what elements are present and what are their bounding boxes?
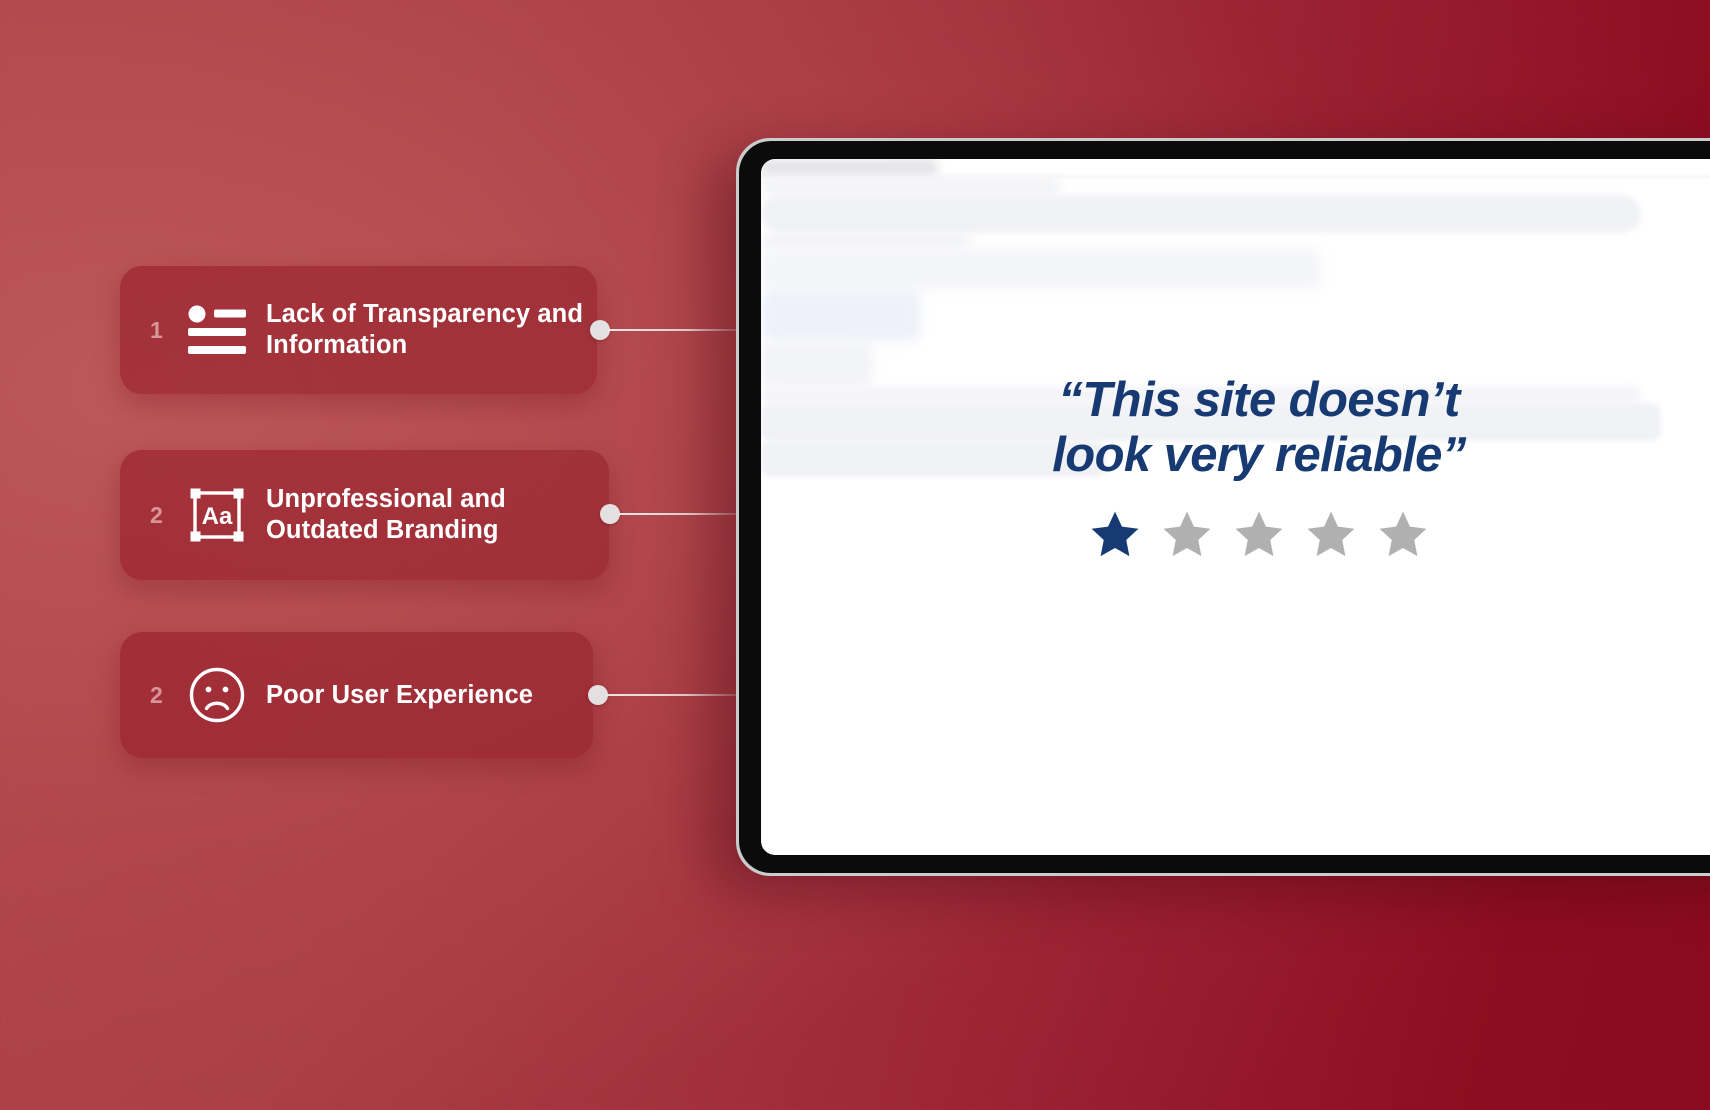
- star-icon-empty-5: [1375, 508, 1431, 562]
- tablet-device: “This site doesn’t look very reliable”: [736, 138, 1710, 876]
- connector-stroke-1: [608, 329, 740, 331]
- issue-card-2[interactable]: 2 Aa Unprofessional and Outdated Brandin…: [120, 450, 609, 580]
- star-icon-filled-1: [1087, 508, 1143, 562]
- text-style-icon: Aa: [184, 482, 250, 548]
- connector-line-3: [588, 675, 740, 715]
- connector-stroke-2: [618, 513, 740, 515]
- star-icon-empty-2: [1159, 508, 1215, 562]
- star-icon-empty-4: [1303, 508, 1359, 562]
- ghost-placeholder-c: [761, 233, 971, 249]
- star-rating: [761, 508, 1710, 562]
- issue-card-2-title: Unprofessional and Outdated Branding: [266, 484, 609, 545]
- issue-card-1-number: 1: [150, 317, 184, 344]
- star-icon-empty-3: [1231, 508, 1287, 562]
- sad-face-icon: [184, 662, 250, 728]
- tablet-bezel: “This site doesn’t look very reliable”: [739, 141, 1710, 873]
- tablet-screen: “This site doesn’t look very reliable”: [761, 159, 1710, 855]
- review-quote-block: “This site doesn’t look very reliable”: [761, 373, 1710, 562]
- connector-line-1: [590, 310, 740, 350]
- connector-stroke-3: [606, 694, 740, 696]
- issue-card-2-number: 2: [150, 502, 184, 529]
- review-quote-text: “This site doesn’t look very reliable”: [761, 373, 1710, 484]
- issue-card-1-title: Lack of Transparency and Information: [266, 299, 597, 360]
- issue-card-1[interactable]: 1 Lack of Transparency and Information: [120, 266, 597, 394]
- issue-card-3-number: 2: [150, 682, 184, 709]
- ghost-page-title: [761, 159, 937, 176]
- issue-card-3-title: Poor User Experience: [266, 680, 593, 711]
- ghost-placeholder-d: [761, 249, 1321, 289]
- svg-text:Aa: Aa: [202, 503, 233, 530]
- issue-card-3[interactable]: 2 Poor User Experience: [120, 632, 593, 758]
- ghost-placeholder-b: [761, 177, 1061, 195]
- issues-card-list: 1 Lack of Transparency and Information 2…: [0, 0, 700, 1110]
- bulleted-list-icon: [184, 297, 250, 363]
- ghost-chip-a: [761, 289, 921, 341]
- connector-line-2: [600, 494, 740, 534]
- ghost-placeholder-a: [761, 195, 1641, 233]
